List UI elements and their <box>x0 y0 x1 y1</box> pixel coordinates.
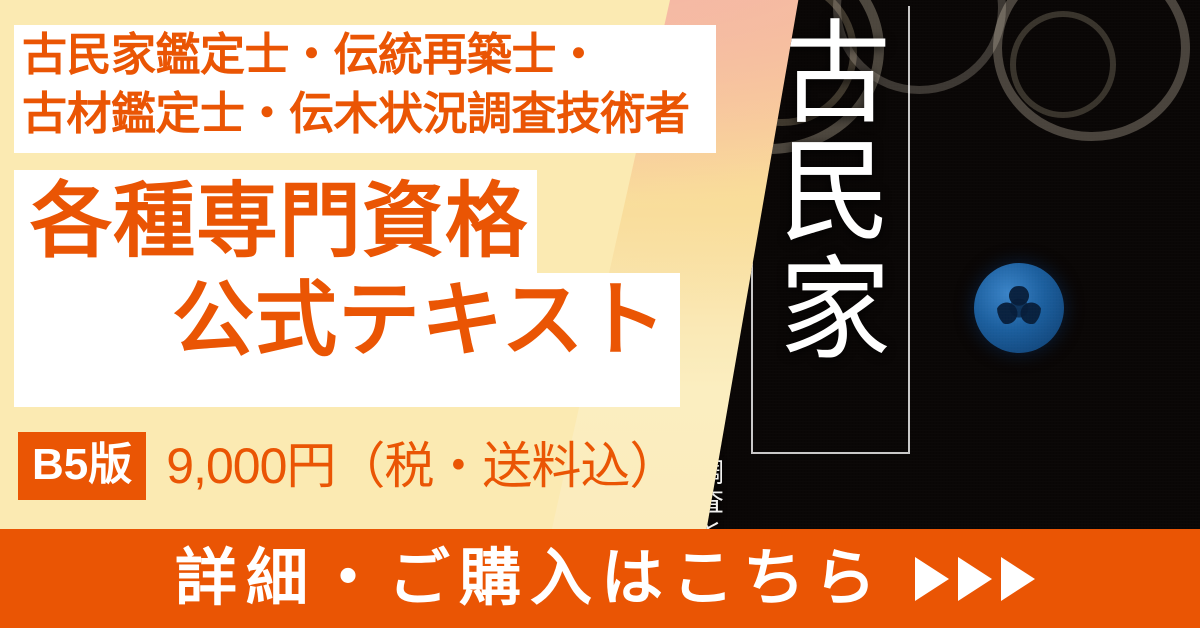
qualifications-line-2: 古材鑑定士・伝木状況調査技術者 <box>16 85 716 144</box>
price-row: B5版 9,000円（税・送料込） <box>18 432 678 500</box>
cta-bar[interactable]: 詳細・ご購入はこちら <box>0 529 1200 628</box>
qualifications-line-1: 古民家鑑定士・伝統再築士・ <box>16 26 716 85</box>
price-label: 9,000円（税・送料込） <box>166 441 678 491</box>
headline-line-1: 各種専門資格 <box>14 172 680 271</box>
play-arrow-icon <box>958 557 992 601</box>
promo-banner: 古民家 伝統構法、古民家活用のための調査と再生の 古民家鑑定士・伝統再築士・ 古… <box>0 0 1200 628</box>
play-arrow-icon <box>1001 557 1035 601</box>
headline-line-2: 公式テキスト <box>14 271 680 370</box>
headline-text: 各種専門資格 公式テキスト <box>14 172 680 370</box>
cta-label: 詳細・ご購入はこちら <box>165 548 885 610</box>
play-arrow-icon <box>915 557 949 601</box>
format-badge: B5版 <box>18 432 146 500</box>
qualifications-text: 古民家鑑定士・伝統再築士・ 古材鑑定士・伝木状況調査技術者 <box>16 26 716 143</box>
cta-arrows <box>915 557 1035 601</box>
